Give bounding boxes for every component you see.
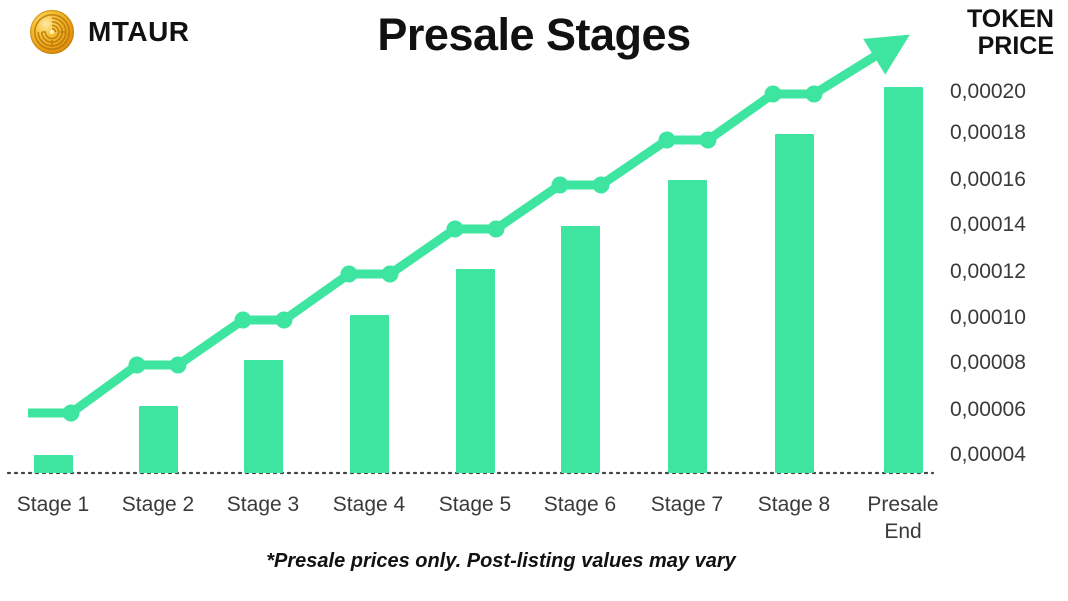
y-tick-label-8: 0,00006 xyxy=(950,398,1060,422)
x-tick-label-stage-3: Stage 3 xyxy=(208,492,318,519)
x-tick-label-presale-end: Presale End xyxy=(848,492,958,546)
y-tick-label-4: 0,00014 xyxy=(950,213,1060,237)
x-tick-label-stage-5: Stage 5 xyxy=(420,492,530,519)
trend-marker-6 xyxy=(341,266,358,283)
bar-stage-1 xyxy=(34,455,73,473)
trend-marker-5 xyxy=(276,312,293,329)
y-axis-tick-labels: 0,000200,000180,000160,000140,000120,000… xyxy=(950,0,1068,601)
trend-marker-8 xyxy=(447,221,464,238)
x-tick-label-stage-6: Stage 6 xyxy=(525,492,635,519)
trend-marker-2 xyxy=(129,357,146,374)
trend-marker-11 xyxy=(593,177,610,194)
bar-stage-8 xyxy=(775,134,814,473)
trend-marker-15 xyxy=(806,86,823,103)
trend-marker-13 xyxy=(700,132,717,149)
bar-stage-5 xyxy=(456,269,495,473)
y-tick-label-2: 0,00018 xyxy=(950,121,1060,145)
x-tick-label-stage-4: Stage 4 xyxy=(314,492,424,519)
y-tick-label-1: 0,00020 xyxy=(950,80,1060,104)
presale-stages-infographic: MTAUR Presale Stages TOKEN PRICE 0,00020… xyxy=(0,0,1068,601)
y-tick-label-9: 0,00004 xyxy=(950,443,1060,467)
bar-stage-2 xyxy=(139,406,178,473)
y-tick-label-5: 0,00012 xyxy=(950,260,1060,284)
trend-marker-3 xyxy=(170,357,187,374)
bar-stage-3 xyxy=(244,360,283,473)
trend-marker-4 xyxy=(235,312,252,329)
bar-stage-7 xyxy=(668,180,707,473)
bar-stage-6 xyxy=(561,226,600,473)
y-tick-label-7: 0,00008 xyxy=(950,351,1060,375)
footnote: *Presale prices only. Post-listing value… xyxy=(0,550,1002,573)
x-tick-label-stage-8: Stage 8 xyxy=(739,492,849,519)
trend-marker-7 xyxy=(382,266,399,283)
trend-marker-9 xyxy=(488,221,505,238)
trend-marker-14 xyxy=(765,86,782,103)
x-tick-label-stage-7: Stage 7 xyxy=(632,492,742,519)
trend-marker-1 xyxy=(63,405,80,422)
x-tick-label-stage-1: Stage 1 xyxy=(0,492,108,519)
x-tick-label-stage-2: Stage 2 xyxy=(103,492,213,519)
y-tick-label-3: 0,00016 xyxy=(950,168,1060,192)
bar-presale-end xyxy=(884,87,923,473)
trend-marker-12 xyxy=(659,132,676,149)
y-tick-label-6: 0,00010 xyxy=(950,306,1060,330)
trend-marker-10 xyxy=(552,177,569,194)
bar-stage-4 xyxy=(350,315,389,473)
